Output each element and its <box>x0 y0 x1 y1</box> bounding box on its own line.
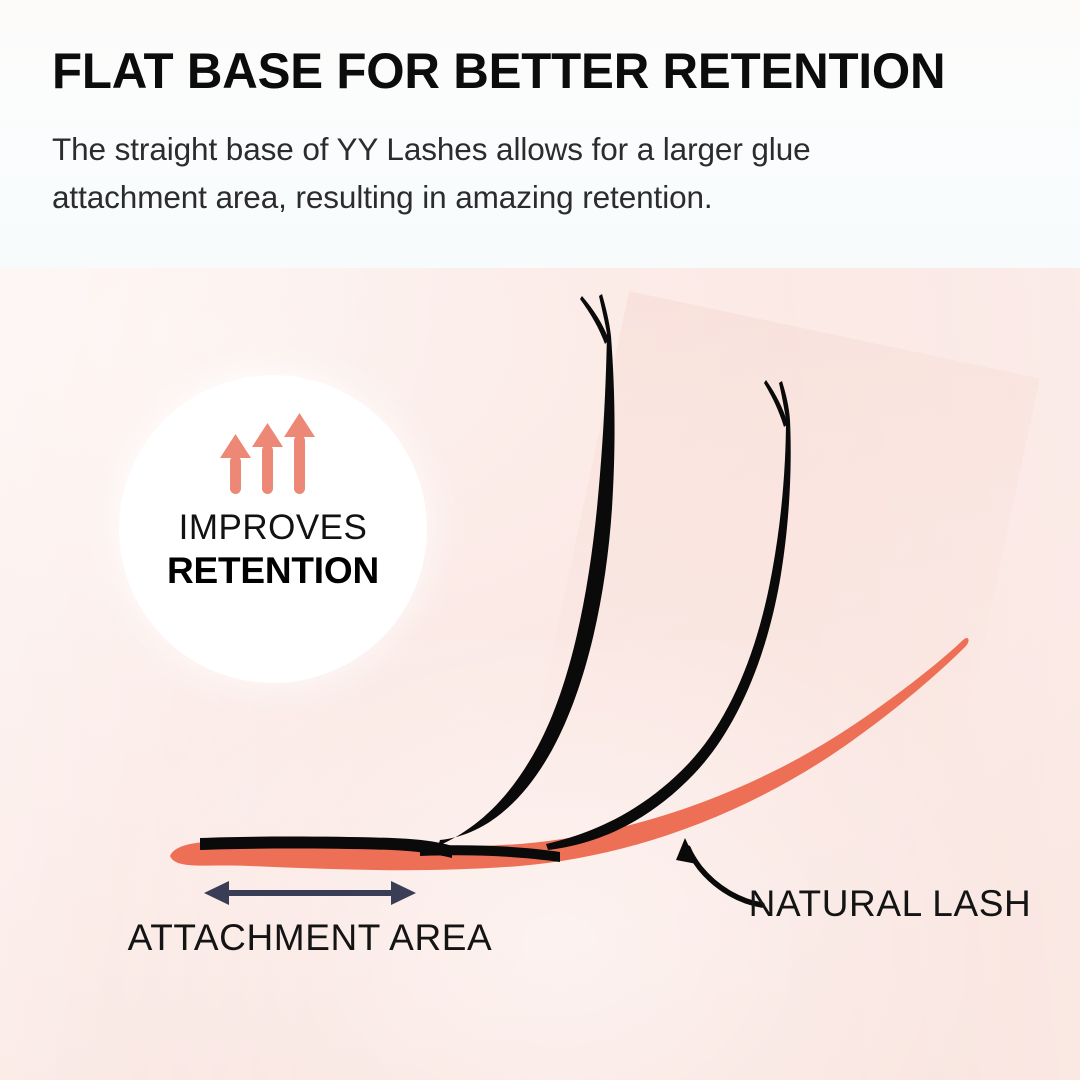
attachment-measure-arrow <box>204 881 416 905</box>
badge-label-retention: RETENTION <box>167 549 379 593</box>
caption-natural-lash: NATURAL LASH <box>740 879 1040 929</box>
badge-label-improves: IMPROVES <box>179 508 368 548</box>
infographic-page: FLAT BASE FOR BETTER RETENTION The strai… <box>0 0 1080 1080</box>
improves-retention-badge: IMPROVES RETENTION <box>119 375 427 683</box>
header-band: FLAT BASE FOR BETTER RETENTION The strai… <box>0 0 1080 268</box>
caption-attachment-area: ATTACHMENT AREA <box>120 913 500 963</box>
page-subtitle: The straight base of YY Lashes allows fo… <box>52 125 972 221</box>
illustration-panel: IMPROVES RETENTION ATTACHMENT AREA NATUR… <box>0 268 1080 1080</box>
page-title: FLAT BASE FOR BETTER RETENTION <box>52 41 1027 101</box>
three-ascending-arrows-icon <box>214 412 332 496</box>
